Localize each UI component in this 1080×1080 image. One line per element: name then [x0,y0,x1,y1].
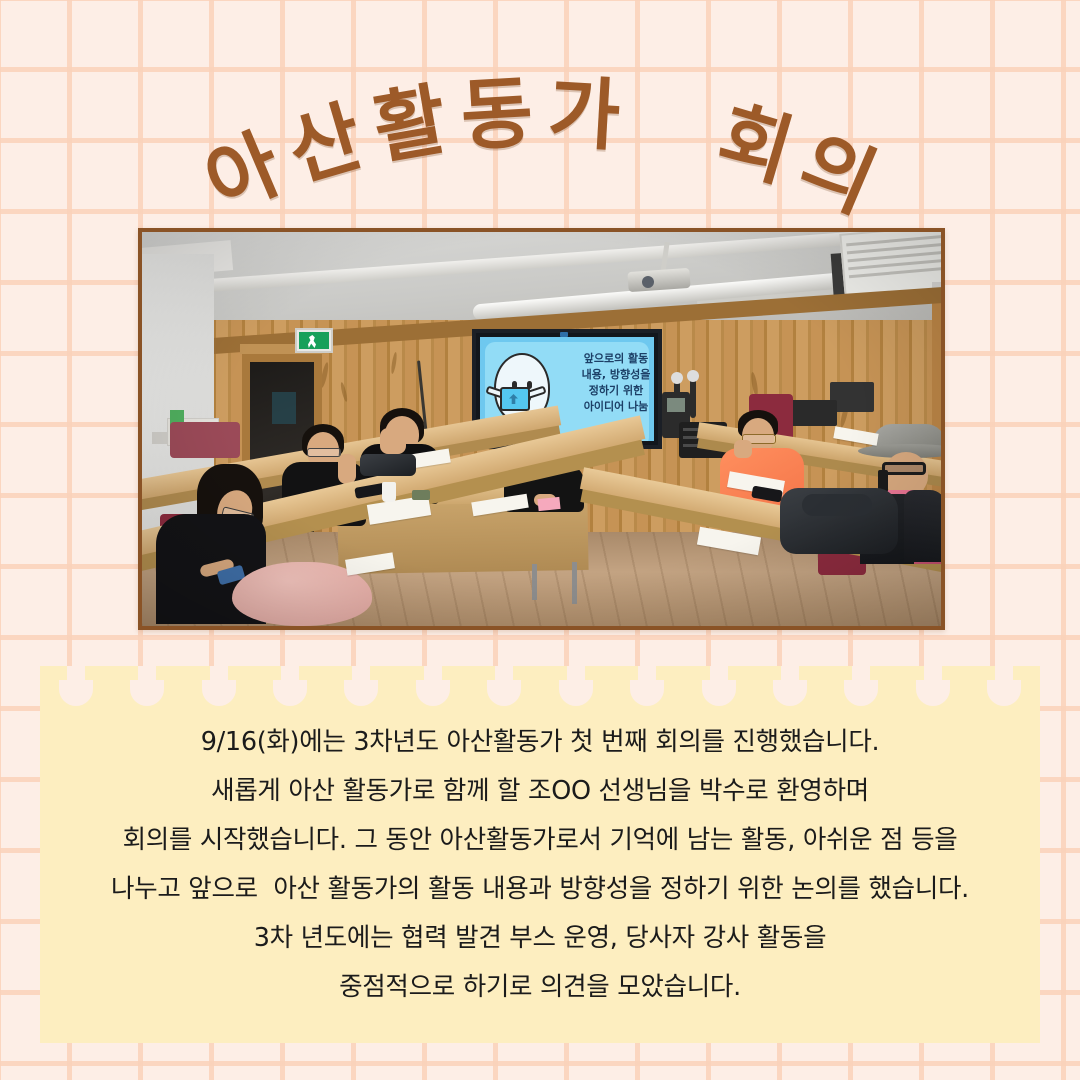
description-line: 새롭게 아산 활동가로 함께 할 조OO 선생님을 박수로 환영하며 [40,767,1040,816]
page-title-char: 회 [710,98,800,193]
page-title: 아산활동가 회의 [0,58,1080,186]
panel-notch-row [40,666,1040,710]
page-title-char: 아 [195,125,291,224]
page-title-char: 산 [280,98,370,193]
description-line: 9/16(화)에는 3차년도 아산활동가 첫 번째 회의를 진행했습니다. [40,718,1040,767]
description-line: 회의를 시작했습니다. 그 동안 아산활동가로서 기억에 남는 활동, 아쉬운 … [40,816,1040,865]
page-title-char: 활 [368,81,451,170]
wall-right-grey [942,272,945,592]
description-line: 나누고 앞으로 아산 활동가의 활동 내용과 방향성을 정하기 위한 논의를 했… [40,865,1040,914]
page-title-arc: 아산활동가 회의 [220,58,860,186]
page-title-char [651,85,690,166]
page-title-char: 동 [459,74,534,156]
description-panel: 9/16(화)에는 3차년도 아산활동가 첫 번째 회의를 진행했습니다. 새롭… [40,666,1040,1043]
description-text: 9/16(화)에는 3차년도 아산활동가 첫 번째 회의를 진행했습니다. 새롭… [40,718,1040,1012]
photo-vignette [142,232,941,626]
page-title-char: 가 [546,74,621,156]
description-line: 중점적으로 하기로 의견을 모았습니다. [40,963,1040,1012]
meeting-room-photo: 앞으로의 활동 내용, 방향성을 정하기 위한 아이디어 나눔 [138,228,945,630]
page-title-char: 의 [789,125,885,224]
description-line: 3차 년도에는 협력 발견 부스 운영, 당사자 강사 활동을 [40,914,1040,963]
